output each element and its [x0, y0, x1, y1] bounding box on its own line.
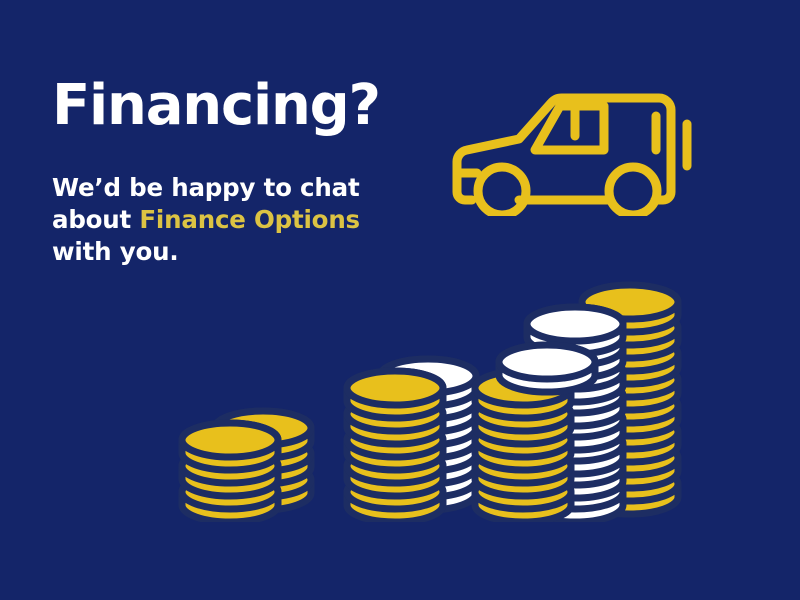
coin-stack-small	[182, 411, 311, 522]
subtext-block: We’d be happy to chat about Finance Opti…	[52, 172, 412, 268]
subtext-line-2: about Finance Options	[52, 204, 412, 236]
subtext-line-2-prefix: about	[52, 205, 139, 234]
coin-stacks	[175, 262, 735, 522]
coin-stack-medium	[347, 359, 476, 522]
text-block: Financing? We’d be happy to chat about F…	[52, 78, 412, 268]
page-title: Financing?	[52, 78, 412, 134]
promo-slide: Financing? We’d be happy to chat about F…	[0, 0, 800, 600]
coin-stack-large	[475, 285, 678, 522]
suv-car-icon	[447, 76, 719, 216]
subtext-line-1: We’d be happy to chat	[52, 172, 412, 204]
finance-options-highlight: Finance Options	[139, 205, 360, 234]
